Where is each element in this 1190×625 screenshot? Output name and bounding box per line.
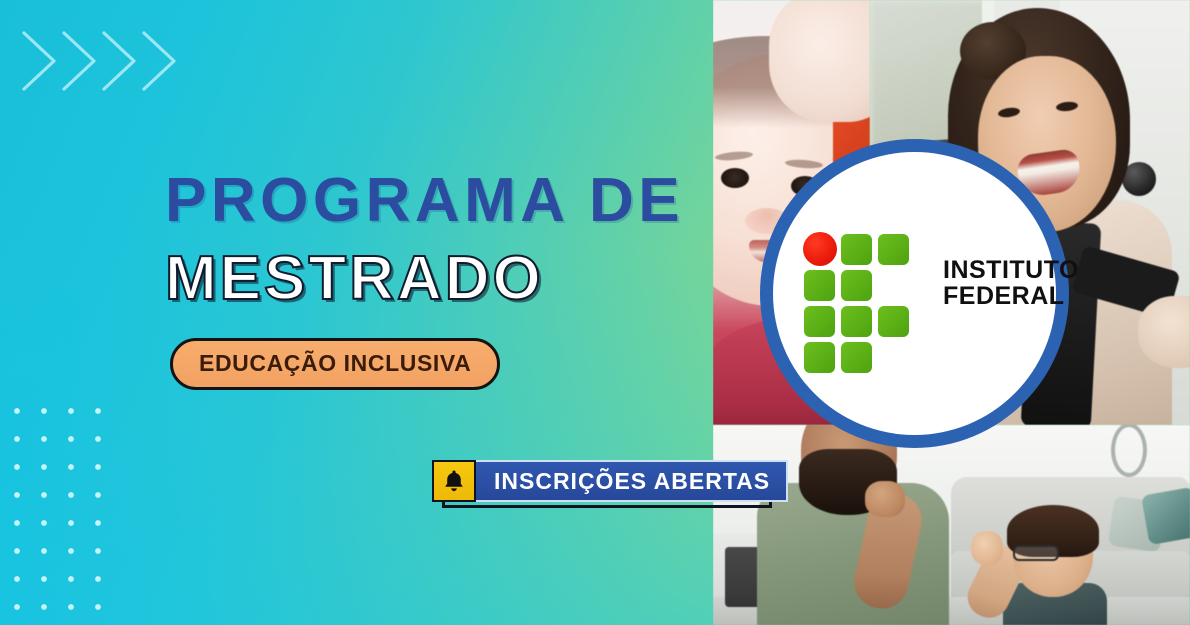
bell-icon-box <box>432 460 476 502</box>
if-logo-cell <box>841 342 872 373</box>
if-logo-red-dot <box>803 232 837 266</box>
bell-icon <box>443 469 465 493</box>
promotional-banner: INSTITUTO FEDERAL PROGRAMA DE MESTRADO E… <box>0 0 1190 625</box>
if-logo-cell <box>804 342 835 373</box>
subject-badge: EDUCAÇÃO INCLUSIVA <box>170 338 500 390</box>
chevron-decoration-group <box>18 25 198 97</box>
if-logo-cell <box>878 306 909 337</box>
if-logo-cell <box>804 306 835 337</box>
dot-grid-pattern <box>0 400 112 625</box>
chevron-right-icon <box>144 33 174 89</box>
chevron-right-icon <box>24 33 54 89</box>
page-title-line-1: PROGRAMA DE <box>165 170 684 232</box>
instituto-federal-label: INSTITUTO FEDERAL <box>943 258 1079 309</box>
if-logo-cell <box>841 306 872 337</box>
if-logo-cell <box>841 234 872 265</box>
chevron-right-icon <box>64 33 94 89</box>
if-logo-cell <box>878 234 909 265</box>
instituto-federal-logo: INSTITUTO FEDERAL <box>773 152 1056 435</box>
headline-block: PROGRAMA DE MESTRADO <box>165 170 684 310</box>
cta-label: INSCRIÇÕES ABERTAS <box>476 460 788 502</box>
if-logo-cell <box>841 270 872 301</box>
photo-man-and-boy-signing <box>713 425 1190 625</box>
chevron-right-icon <box>104 33 134 89</box>
page-title-line-2: MESTRADO <box>165 248 684 310</box>
if-logo-grid <box>803 232 919 376</box>
call-to-action-banner[interactable]: INSCRIÇÕES ABERTAS <box>432 460 788 502</box>
if-logo-cell <box>804 270 835 301</box>
